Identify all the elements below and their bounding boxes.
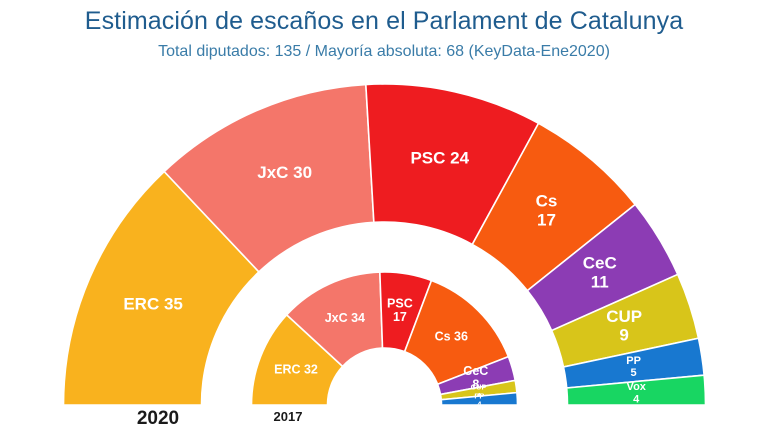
segment-label-cs-2020: Cs17 [536, 192, 558, 230]
segment-label-pp-2017: PP4 [474, 391, 484, 408]
segment-label-psc-2020: PSC 24 [410, 149, 469, 168]
segment-label-jxc-2020: JxC 30 [257, 163, 312, 182]
ring-2020: ERC 35JxC 30PSC 24Cs17CeC11CUP9PP5Vox4 [64, 84, 706, 405]
segment-label-jxc-2017: JxC 34 [325, 311, 365, 325]
segment-label-erc-2017: ERC 32 [274, 363, 318, 377]
ring-2017: ERC 32JxC 34PSC17Cs 36CeC8CUP4PP4 [252, 272, 518, 409]
year-label-2020: 2020 [137, 408, 179, 429]
segment-label-cs-2017: Cs 36 [435, 330, 468, 344]
year-label-2017: 2017 [274, 409, 303, 424]
segment-label-erc-2020: ERC 35 [123, 295, 183, 314]
parliament-seat-chart: ERC 35JxC 30PSC 24Cs17CeC11CUP9PP5Vox4 E… [0, 0, 768, 432]
